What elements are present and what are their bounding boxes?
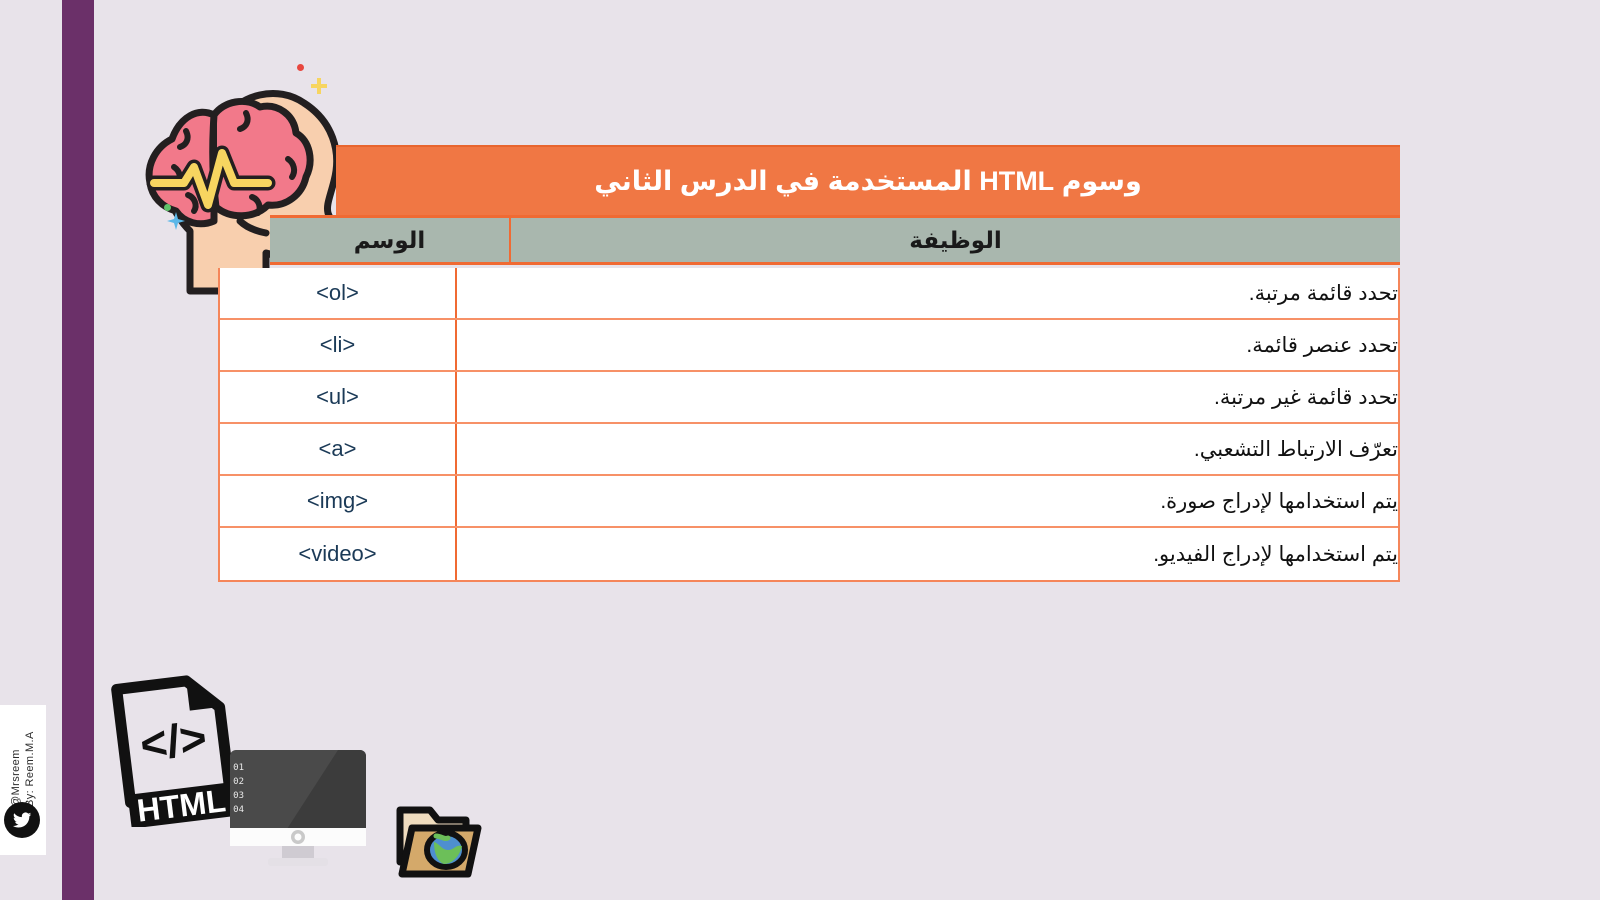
blue-sparkle-icon xyxy=(167,212,185,230)
cell-tag: <li> xyxy=(220,320,455,370)
table-row: تحدد عنصر قائمة. <li> xyxy=(220,320,1398,372)
web-folder-icon xyxy=(390,798,484,882)
cell-tag: <video> xyxy=(220,528,455,580)
cell-function: تحدد قائمة غير مرتبة. xyxy=(455,372,1398,422)
red-dot xyxy=(297,64,304,71)
table-body: تحدد قائمة مرتبة. <ol> تحدد عنصر قائمة. … xyxy=(218,268,1400,582)
table-row: يتم استخدامها لإدراج صورة. <img> xyxy=(220,476,1398,528)
green-dot xyxy=(164,204,171,211)
table-row: تحدد قائمة مرتبة. <ol> xyxy=(220,268,1398,320)
table-row: تحدد قائمة غير مرتبة. <ul> xyxy=(220,372,1398,424)
code-line-2: 02 <BODY> xyxy=(228,777,244,787)
code-line-4: 04 </HEADER> xyxy=(228,805,244,815)
html-tags-table: وسوم HTML المستخدمة في الدرس الثاني الوظ… xyxy=(218,145,1400,580)
cell-function: تحدد قائمة مرتبة. xyxy=(455,268,1398,318)
code-line-1: 01 <HTML> xyxy=(228,763,244,773)
yellow-plus-icon xyxy=(311,78,327,94)
left-purple-bar xyxy=(62,0,94,900)
cell-tag: <ol> xyxy=(220,268,455,318)
twitter-bird-icon[interactable] xyxy=(4,802,40,838)
cell-function: يتم استخدامها لإدراج الفيديو. xyxy=(455,528,1398,580)
cell-function: يتم استخدامها لإدراج صورة. xyxy=(455,476,1398,526)
column-header-tag: الوسم xyxy=(270,218,509,262)
table-title: وسوم HTML المستخدمة في الدرس الثاني xyxy=(336,145,1400,215)
credit-handle: @Mrsreem xyxy=(10,711,22,807)
code-line-3: 03 <HEADER> xyxy=(228,791,244,801)
cell-function: تحدد عنصر قائمة. xyxy=(455,320,1398,370)
cell-tag: <img> xyxy=(220,476,455,526)
table-row: يتم استخدامها لإدراج الفيديو. <video> xyxy=(220,528,1398,580)
html-file-icon: </> HTML xyxy=(108,665,238,827)
table-row: تعرّف الارتباط التشعبي. <a> xyxy=(220,424,1398,476)
column-header-function: الوظيفة xyxy=(509,218,1400,262)
table-column-headers: الوظيفة الوسم xyxy=(270,215,1400,265)
cell-tag: <a> xyxy=(220,424,455,474)
cell-tag: <ul> xyxy=(220,372,455,422)
credit-author: By: Reem.M.A xyxy=(24,711,36,807)
code-glyph: </> xyxy=(137,711,209,771)
code-monitor-icon: 01 <HTML> 02 <BODY> 03 <HEADER> 04 </HEA… xyxy=(228,748,368,870)
cell-function: تعرّف الارتباط التشعبي. xyxy=(455,424,1398,474)
